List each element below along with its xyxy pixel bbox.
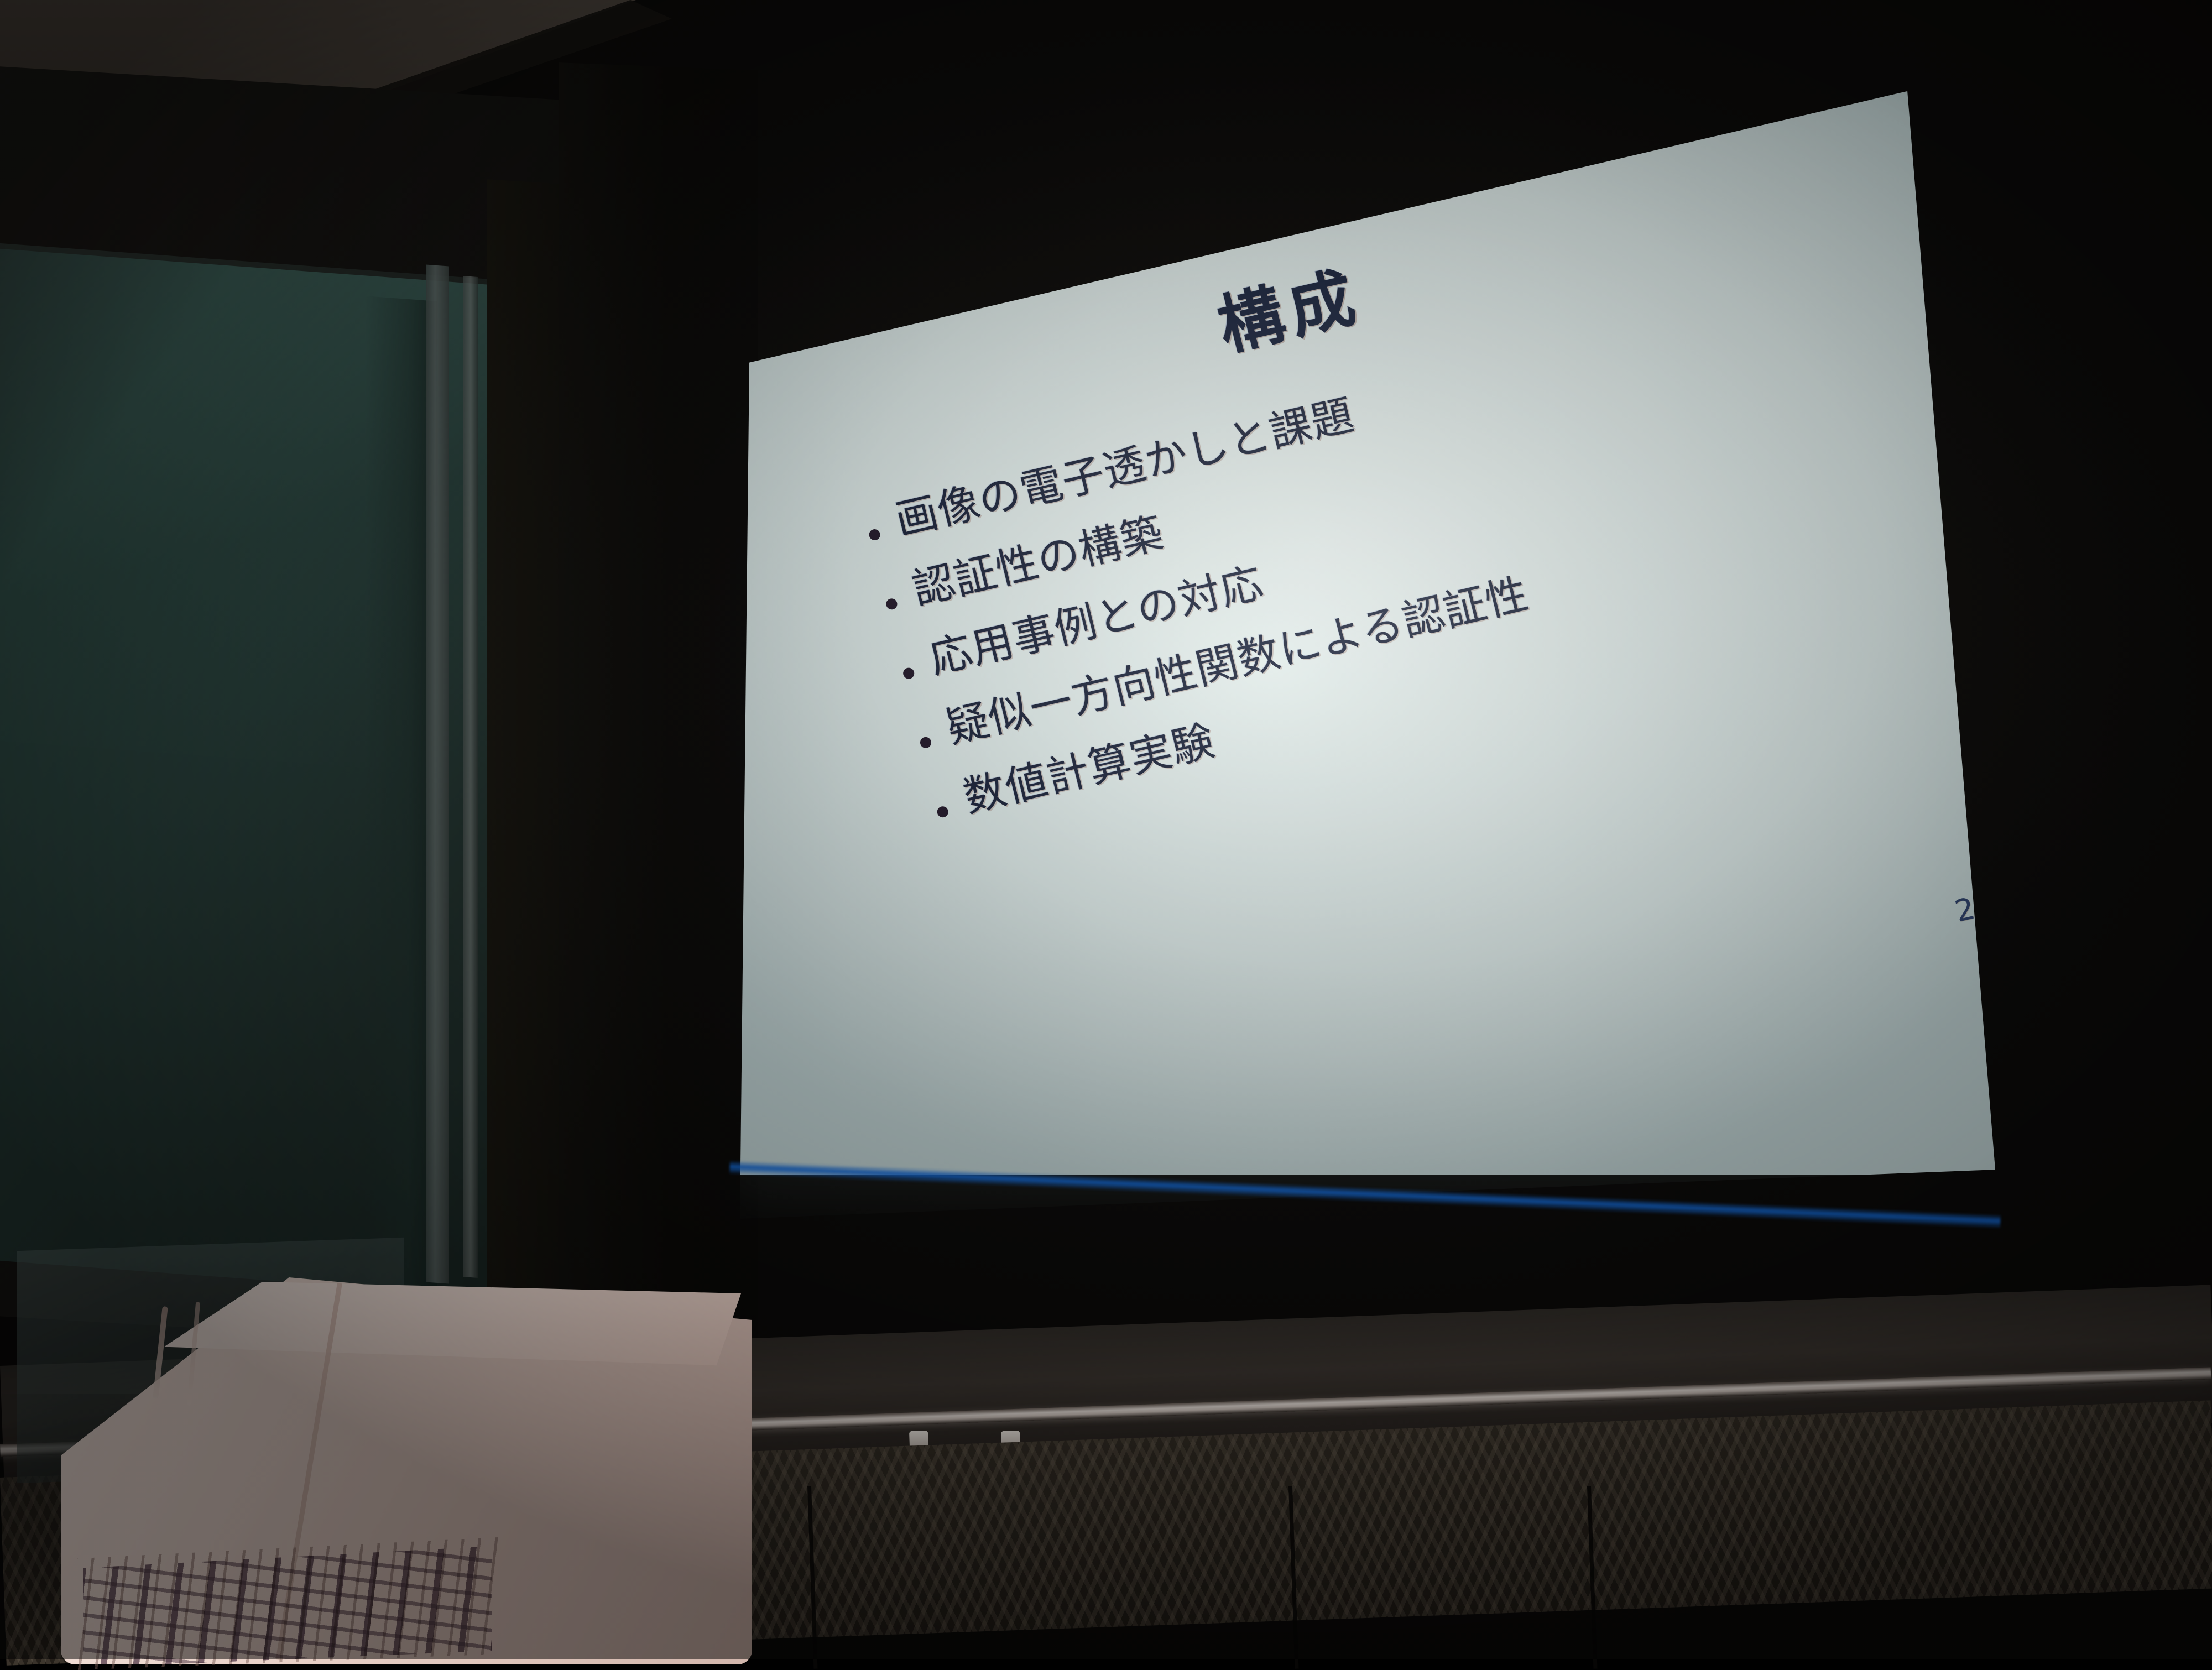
lecture-room: 構成 画像の電子透かしと課題 認証性の構築 応用事例との対応: [0, 0, 2212, 1659]
blackboard-rail: [426, 264, 449, 1283]
crt-monitor[interactable]: [61, 1277, 752, 1664]
blackboard-rail-inner: [463, 276, 478, 1278]
wall-pillar: [559, 62, 758, 1364]
